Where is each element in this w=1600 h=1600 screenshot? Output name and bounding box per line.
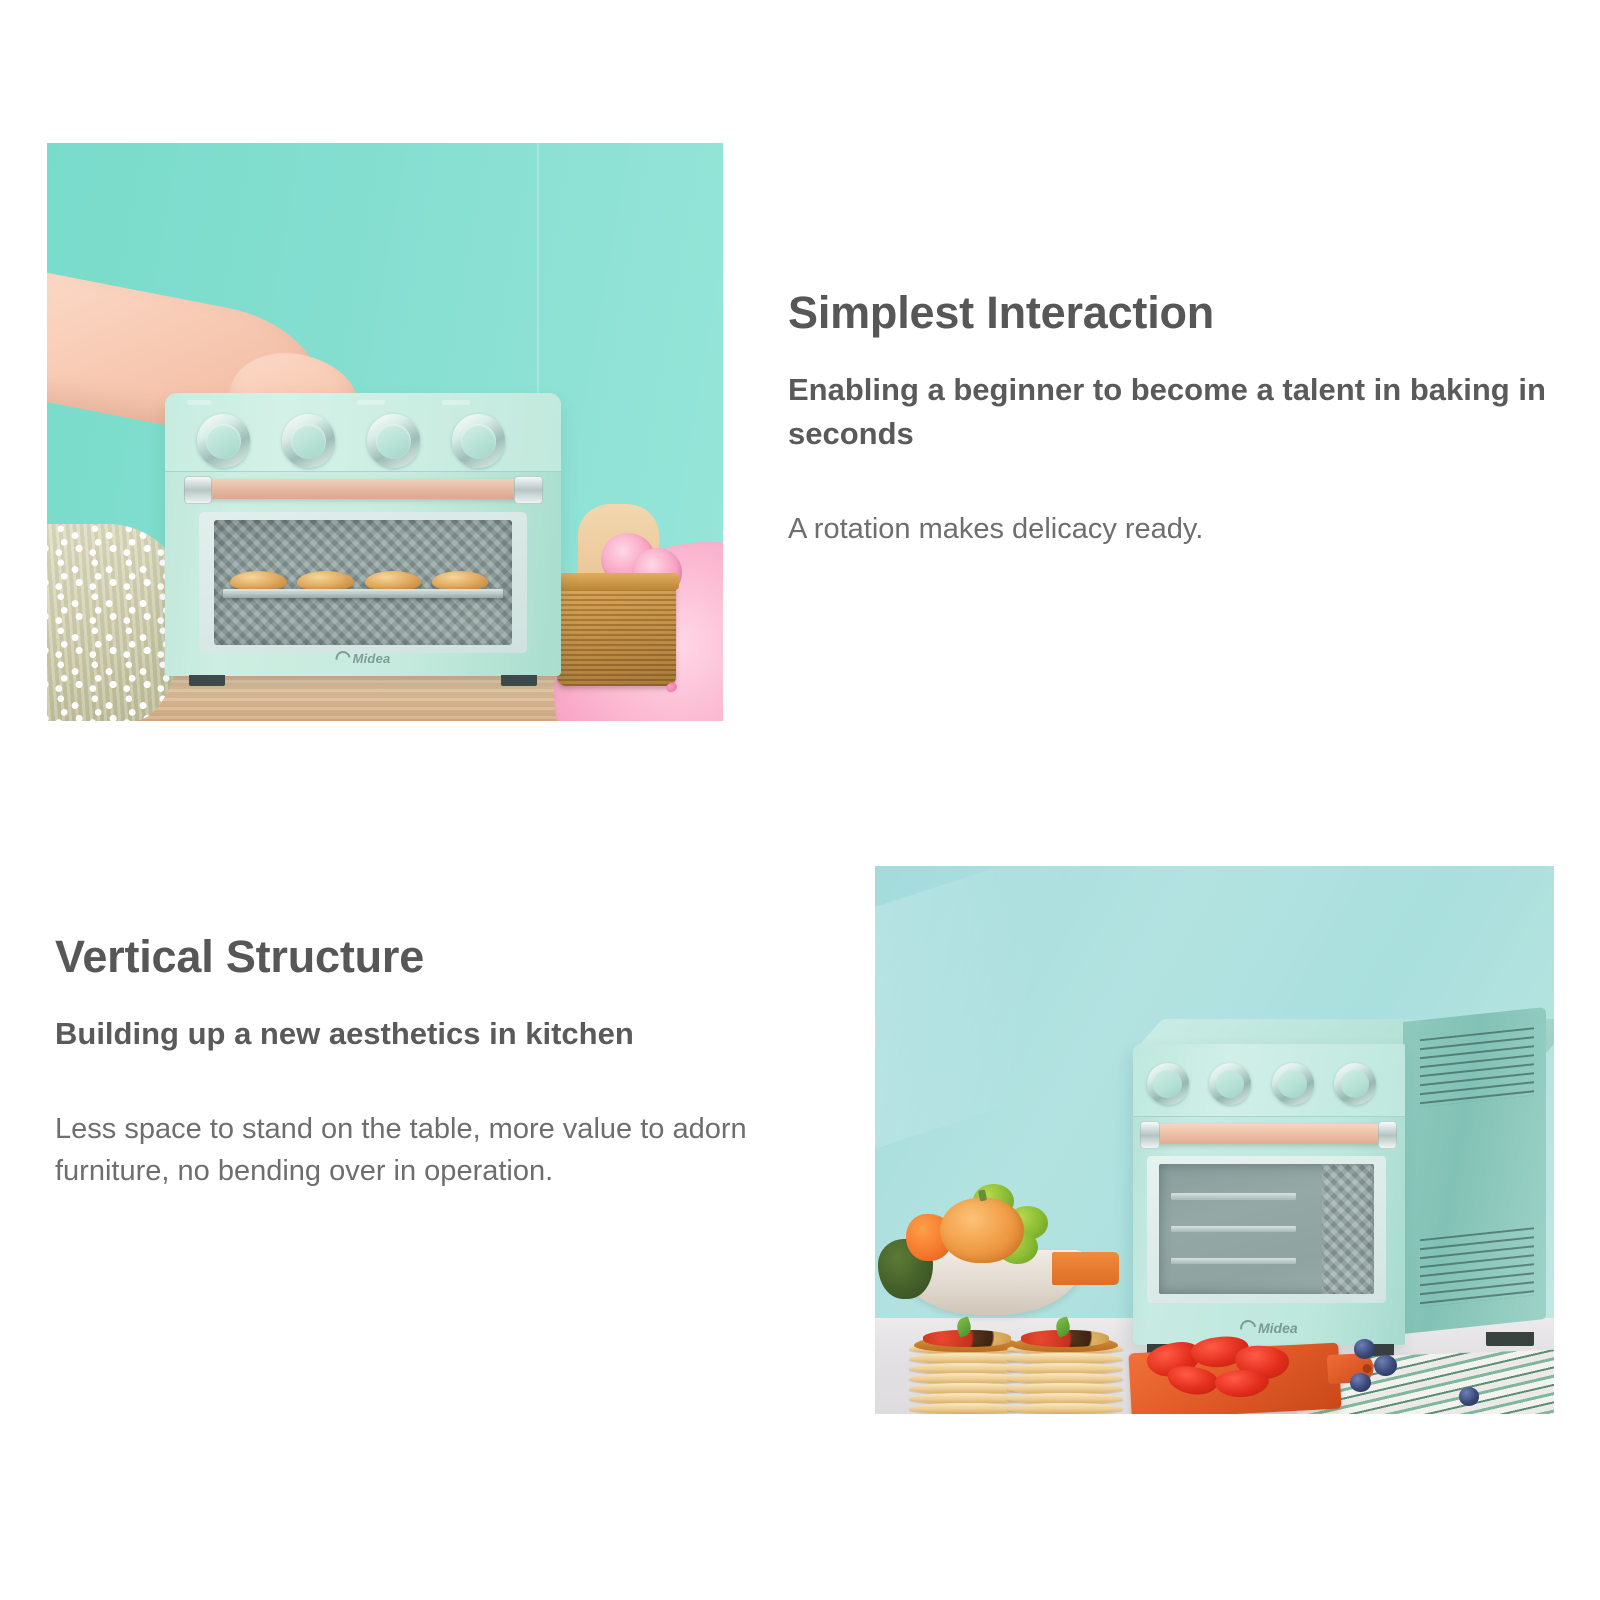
text-block-vertical-structure: Vertical Structure Building up a new aes… <box>55 932 815 1193</box>
oven-leg <box>189 675 225 686</box>
panel-label <box>187 400 211 405</box>
midea-swoosh-icon <box>333 648 354 669</box>
baked-pastry <box>432 571 489 590</box>
scene-kitchen-front-view: Midea <box>47 143 723 721</box>
oven-body: Midea <box>165 393 560 676</box>
control-knob[interactable] <box>1147 1063 1189 1105</box>
handle-mount <box>184 476 212 504</box>
panel-label <box>357 400 385 405</box>
blueberry <box>1374 1355 1397 1376</box>
pancake-stack <box>1007 1344 1122 1414</box>
brand-logo: Midea <box>336 651 391 666</box>
oven-rack <box>1171 1258 1296 1264</box>
oven-cavity-texture <box>1322 1164 1374 1294</box>
section-heading: Simplest Interaction <box>788 288 1548 338</box>
control-knob[interactable] <box>197 414 250 467</box>
oven-glass-window <box>1159 1164 1374 1294</box>
basket-rim <box>554 573 679 590</box>
oven-door <box>199 512 527 654</box>
oven-door-handle[interactable] <box>1144 1124 1394 1144</box>
oven-leg <box>501 675 537 686</box>
blueberry <box>1350 1373 1370 1392</box>
midea-swoosh-icon <box>1237 1317 1259 1339</box>
oven-body: Midea <box>1133 1044 1405 1345</box>
control-knob[interactable] <box>452 414 505 467</box>
control-knob[interactable] <box>1334 1063 1376 1105</box>
product-photo-simplest-interaction: Midea <box>47 143 723 721</box>
brand-name: Midea <box>353 651 391 666</box>
baked-pastry <box>297 571 354 590</box>
section-body: A rotation makes delicacy ready. <box>788 508 1548 551</box>
control-knob[interactable] <box>367 414 420 467</box>
oven-door <box>1147 1156 1386 1304</box>
ventilation-slots <box>1420 1027 1534 1108</box>
oven-side-panel <box>1403 1007 1546 1334</box>
bowl-leather-strap <box>1052 1252 1120 1285</box>
handle-mount <box>514 476 542 504</box>
handle-mount <box>1378 1121 1397 1149</box>
product-feature-page: Midea Simplest Interaction Enabling a be… <box>0 0 1600 1600</box>
brand-logo: Midea <box>1240 1320 1298 1336</box>
oven-rack <box>1171 1193 1296 1199</box>
text-block-simplest-interaction: Simplest Interaction Enabling a beginner… <box>788 288 1548 550</box>
handle-mount <box>1140 1121 1159 1149</box>
control-knob[interactable] <box>282 414 335 467</box>
polka-dot-cloth <box>47 524 182 721</box>
oven-rack <box>1171 1226 1296 1232</box>
section-subheading: Building up a new aesthetics in kitchen <box>55 1012 815 1056</box>
pancake <box>1007 1403 1122 1414</box>
control-knob[interactable] <box>1272 1063 1314 1105</box>
baked-pastry <box>230 571 287 590</box>
section-heading: Vertical Structure <box>55 932 815 982</box>
section-body: Less space to stand on the table, more v… <box>55 1108 815 1194</box>
blueberry <box>1459 1387 1479 1406</box>
ventilation-slots <box>1420 1227 1534 1308</box>
product-photo-vertical-structure: Midea <box>875 866 1554 1414</box>
control-panel <box>1133 1044 1405 1117</box>
baking-tray <box>223 589 504 598</box>
control-panel <box>165 393 560 472</box>
woven-basket <box>557 582 675 686</box>
section-subheading: Enabling a beginner to become a talent i… <box>788 368 1548 456</box>
oven-leg <box>1486 1332 1534 1345</box>
scene-kitchen-angled-view: Midea <box>875 866 1554 1414</box>
brand-name: Midea <box>1258 1320 1298 1336</box>
control-knob[interactable] <box>1209 1063 1251 1105</box>
oven-door-handle[interactable] <box>187 479 539 499</box>
baked-pastry <box>365 571 422 590</box>
pumpkin <box>940 1198 1025 1264</box>
panel-label <box>442 400 470 405</box>
oven-glass-window <box>214 520 513 645</box>
